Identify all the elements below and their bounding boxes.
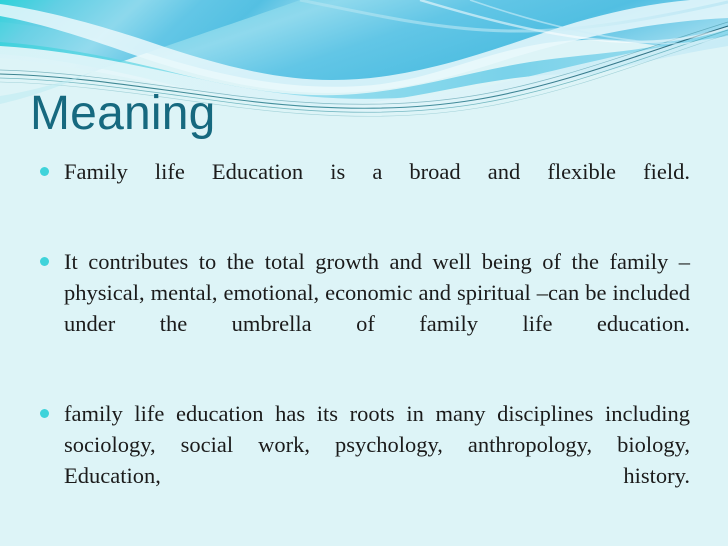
list-item-text: It contributes to the total growth and w…	[64, 246, 690, 370]
page-title: Meaning	[30, 86, 216, 142]
bullet-dot-icon	[40, 257, 49, 266]
list-item: It contributes to the total growth and w…	[38, 246, 690, 370]
bullet-dot-icon	[40, 167, 49, 176]
bullet-list: Family life Education is a broad and fle…	[38, 156, 690, 522]
presentation-slide: Meaning Family life Education is a broad…	[0, 0, 728, 546]
list-item: Family life Education is a broad and fle…	[38, 156, 690, 218]
bullet-dot-icon	[40, 409, 49, 418]
list-item: family life education has its roots in m…	[38, 398, 690, 522]
list-item-text: family life education has its roots in m…	[64, 398, 690, 522]
list-item-text: Family life Education is a broad and fle…	[64, 156, 690, 218]
